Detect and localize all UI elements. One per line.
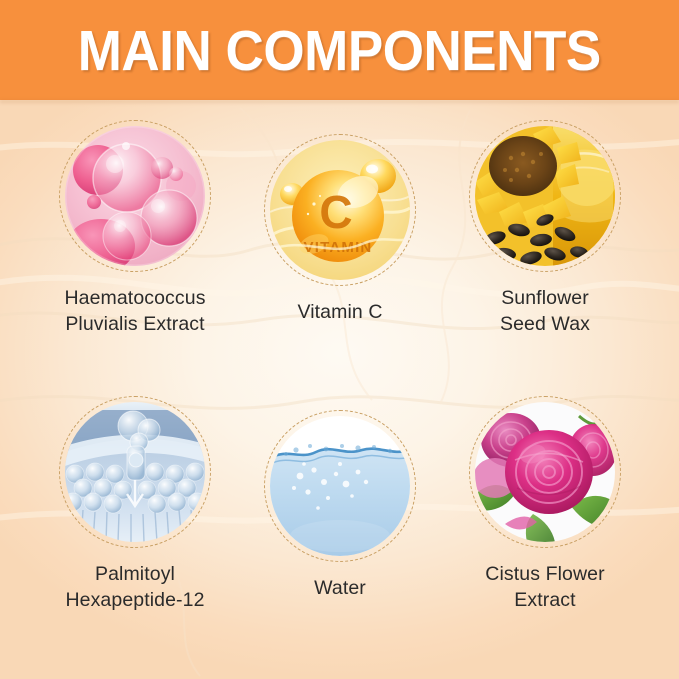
component-item-haematococcus-pluvialis-extract[interactable]: Haematococcus Pluvialis Extract <box>22 120 248 338</box>
components-grid: Haematococcus Pluvialis Extract <box>0 100 679 679</box>
dashed-ring <box>264 134 416 286</box>
component-label: Sunflower Seed Wax <box>432 286 658 338</box>
page-title: MAIN COMPONENTS <box>78 23 601 80</box>
component-circle <box>469 120 621 272</box>
component-label: Cistus Flower Extract <box>432 562 658 614</box>
dashed-ring <box>59 396 211 548</box>
component-label: Water <box>227 576 453 602</box>
component-circle <box>59 396 211 548</box>
dashed-ring <box>59 120 211 272</box>
component-circle <box>264 410 416 562</box>
component-item-water[interactable]: Water <box>227 410 453 602</box>
component-label: Palmitoyl Hexapeptide-12 <box>22 562 248 614</box>
component-circle <box>59 120 211 272</box>
main-components-infographic: MAIN COMPONENTS <box>0 0 679 679</box>
component-item-sunflower-seed-wax[interactable]: Sunflower Seed Wax <box>432 120 658 338</box>
dashed-ring <box>264 410 416 562</box>
dashed-ring <box>469 396 621 548</box>
component-item-cistus-flower-extract[interactable]: Cistus Flower Extract <box>432 396 658 614</box>
component-item-palmitoyl-hexapeptide-12[interactable]: Palmitoyl Hexapeptide-12 <box>22 396 248 614</box>
dashed-ring <box>469 120 621 272</box>
component-label: Haematococcus Pluvialis Extract <box>22 286 248 338</box>
component-circle <box>469 396 621 548</box>
header-banner: MAIN COMPONENTS <box>0 0 679 100</box>
component-label: Vitamin C <box>227 300 453 326</box>
component-item-vitamin-c[interactable]: C VITAMIN Vitamin C <box>227 134 453 326</box>
component-circle: C VITAMIN <box>264 134 416 286</box>
